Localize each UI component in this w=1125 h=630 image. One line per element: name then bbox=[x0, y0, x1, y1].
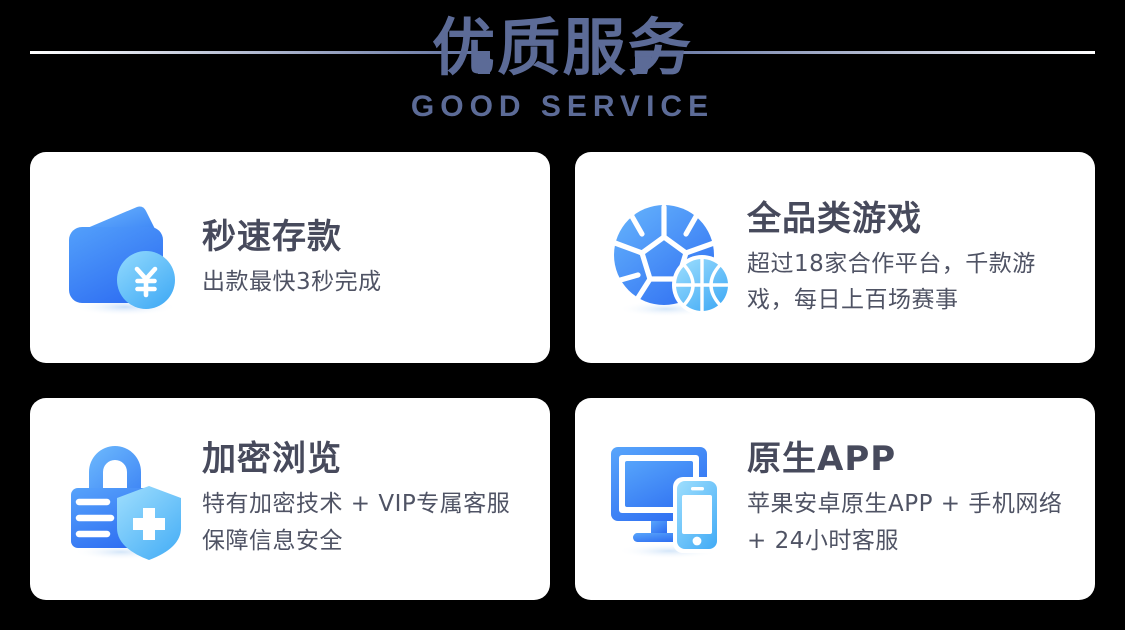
card-text: 原生APP 苹果安卓原生APP + 手机网络 + 24小时客服 bbox=[737, 438, 1073, 560]
soccer-basketball-icon bbox=[605, 192, 737, 324]
card-title: 秒速存款 bbox=[202, 216, 528, 258]
card-subtitle: 特有加密技术 + VIP专属客服保障信息安全 bbox=[202, 486, 528, 560]
lock-shield-icon bbox=[60, 433, 192, 565]
card-subtitle: 出款最快3秒完成 bbox=[202, 264, 528, 300]
service-card-native-app[interactable]: 原生APP 苹果安卓原生APP + 手机网络 + 24小时客服 bbox=[575, 398, 1095, 600]
card-text: 加密浏览 特有加密技术 + VIP专属客服保障信息安全 bbox=[192, 438, 528, 560]
title-block: 优质服务 GOOD SERVICE bbox=[0, 8, 1125, 124]
card-subtitle: 超过18家合作平台，千款游戏，每日上百场赛事 bbox=[747, 246, 1073, 318]
card-title: 原生APP bbox=[747, 438, 1073, 480]
page-title: 优质服务 bbox=[0, 8, 1125, 88]
card-subtitle: 苹果安卓原生APP + 手机网络 + 24小时客服 bbox=[747, 486, 1073, 560]
service-card-encryption[interactable]: 加密浏览 特有加密技术 + VIP专属客服保障信息安全 bbox=[30, 398, 550, 600]
card-text: 全品类游戏 超过18家合作平台，千款游戏，每日上百场赛事 bbox=[737, 198, 1073, 318]
card-title: 全品类游戏 bbox=[747, 198, 1073, 240]
wallet-yen-icon bbox=[60, 192, 192, 324]
service-card-deposit[interactable]: 秒速存款 出款最快3秒完成 bbox=[30, 152, 550, 363]
service-card-games[interactable]: 全品类游戏 超过18家合作平台，千款游戏，每日上百场赛事 bbox=[575, 152, 1095, 363]
monitor-phone-icon bbox=[605, 433, 737, 565]
card-title: 加密浏览 bbox=[202, 438, 528, 480]
service-card-grid: 秒速存款 出款最快3秒完成 bbox=[30, 152, 1095, 600]
page-header: 优质服务 GOOD SERVICE bbox=[0, 0, 1125, 152]
page-subtitle: GOOD SERVICE bbox=[0, 90, 1125, 124]
card-text: 秒速存款 出款最快3秒完成 bbox=[192, 216, 528, 300]
